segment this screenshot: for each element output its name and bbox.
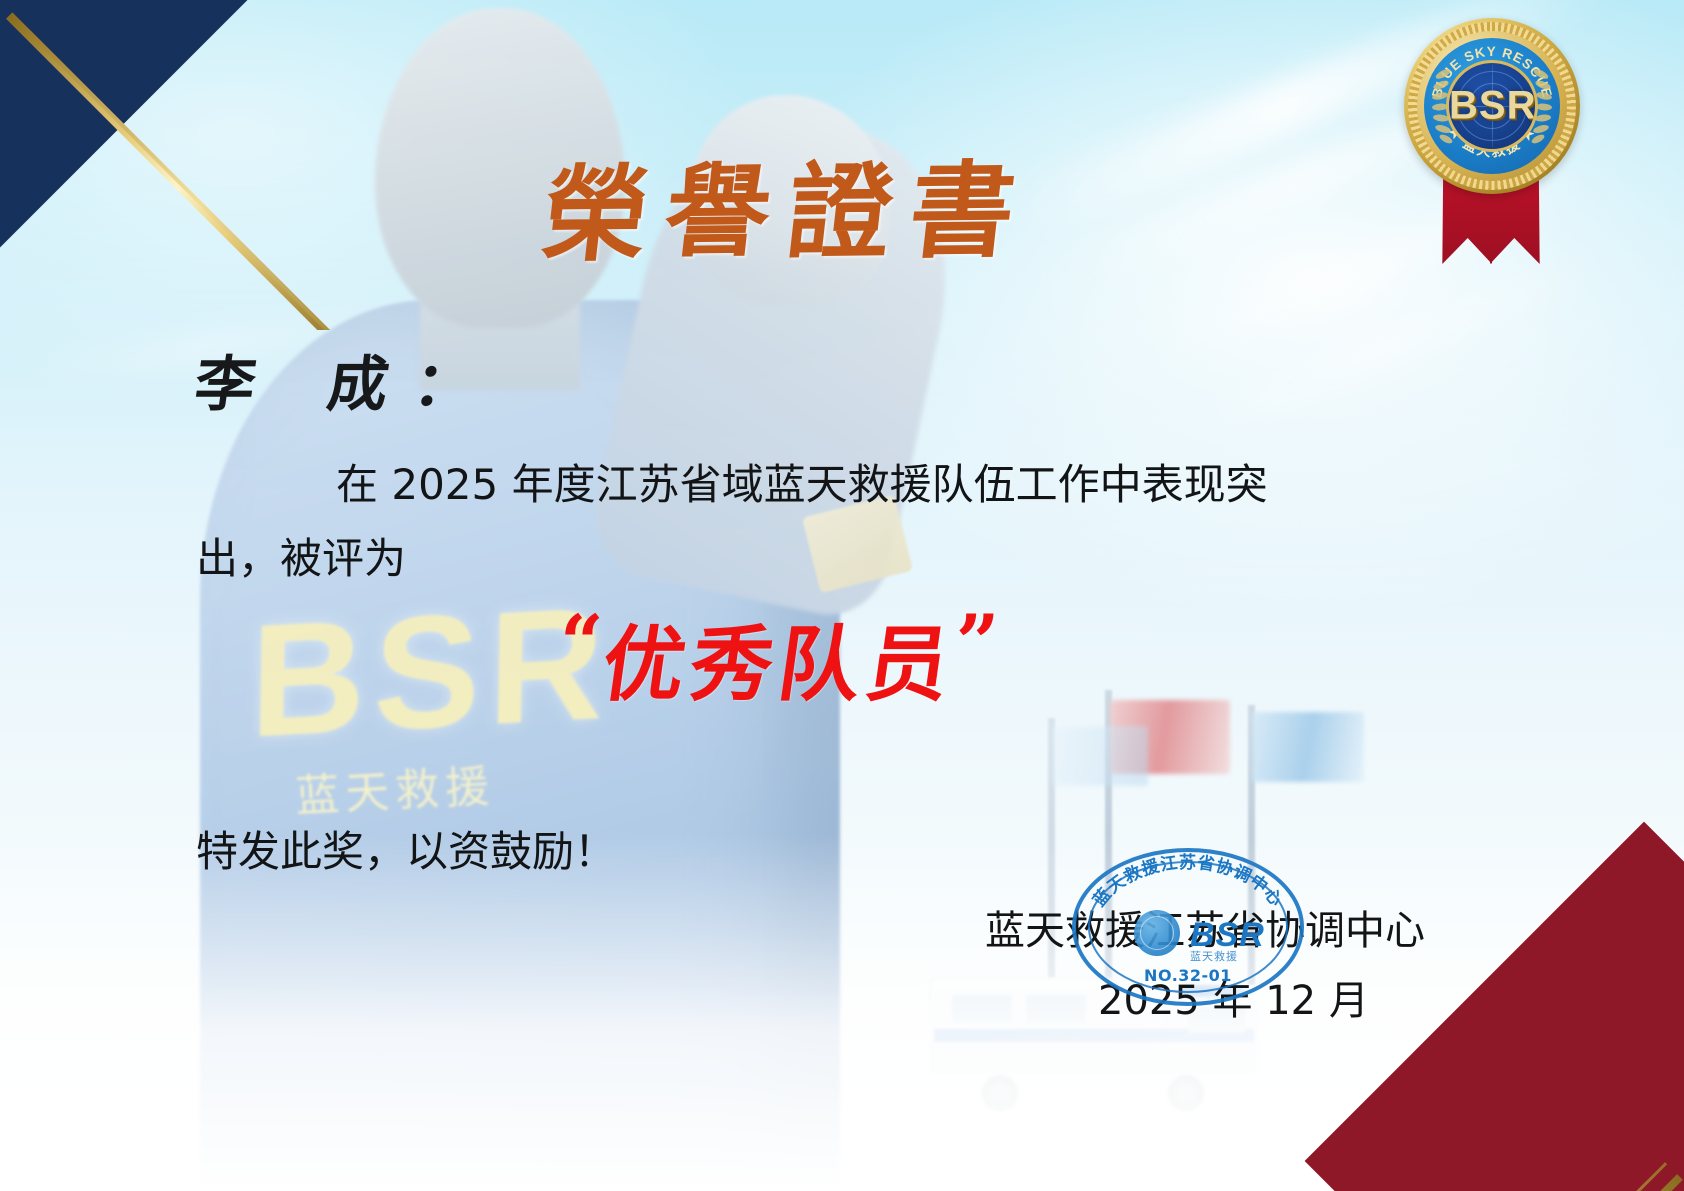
corner-gold-line-thin [28,31,330,330]
award-title-line: “优秀队员” [560,598,999,717]
body-line-2: 出，被评为 [196,522,1396,596]
medal-center-letters: BSR [1449,84,1535,129]
flag-cloth [1052,726,1148,786]
medal-disc: ★ BLUE SKY RESCUE ★ ★ 蓝天救援 ★ [1404,18,1580,194]
issue-date: 2025 年 12 月 [1098,968,1369,1026]
medal-blue-ring: ★ BLUE SKY RESCUE ★ ★ 蓝天救援 ★ [1424,38,1560,174]
award-title: 优秀队员 [595,598,964,717]
medal-core-disc: BSR [1446,60,1538,152]
recipient-name: 李 成： [190,336,507,423]
certificate-body: 在 2025 年度江苏省域蓝天救援队伍工作中表现突 出，被评为 [196,448,1396,596]
issuer-name: 蓝天救援江苏省协调中心 [985,898,1425,956]
body-line-1: 在 2025 年度江苏省域蓝天救援队伍工作中表现突 [196,448,1396,522]
certificate-title: 榮譽證書 [536,125,1042,281]
corner-decoration-top-left [0,0,330,330]
uniform-bsr-logo: BSR [249,570,614,773]
certificate-page: BSR 蓝天救援 [0,0,1684,1191]
closing-text: 特发此奖，以资鼓励！ [196,818,616,879]
uniform-bsr-subtitle: 蓝天救援 [293,750,496,824]
award-quote-open: “ [560,598,604,687]
bsr-medal-emblem: ★ BLUE SKY RESCUE ★ ★ 蓝天救援 ★ [1396,18,1586,270]
